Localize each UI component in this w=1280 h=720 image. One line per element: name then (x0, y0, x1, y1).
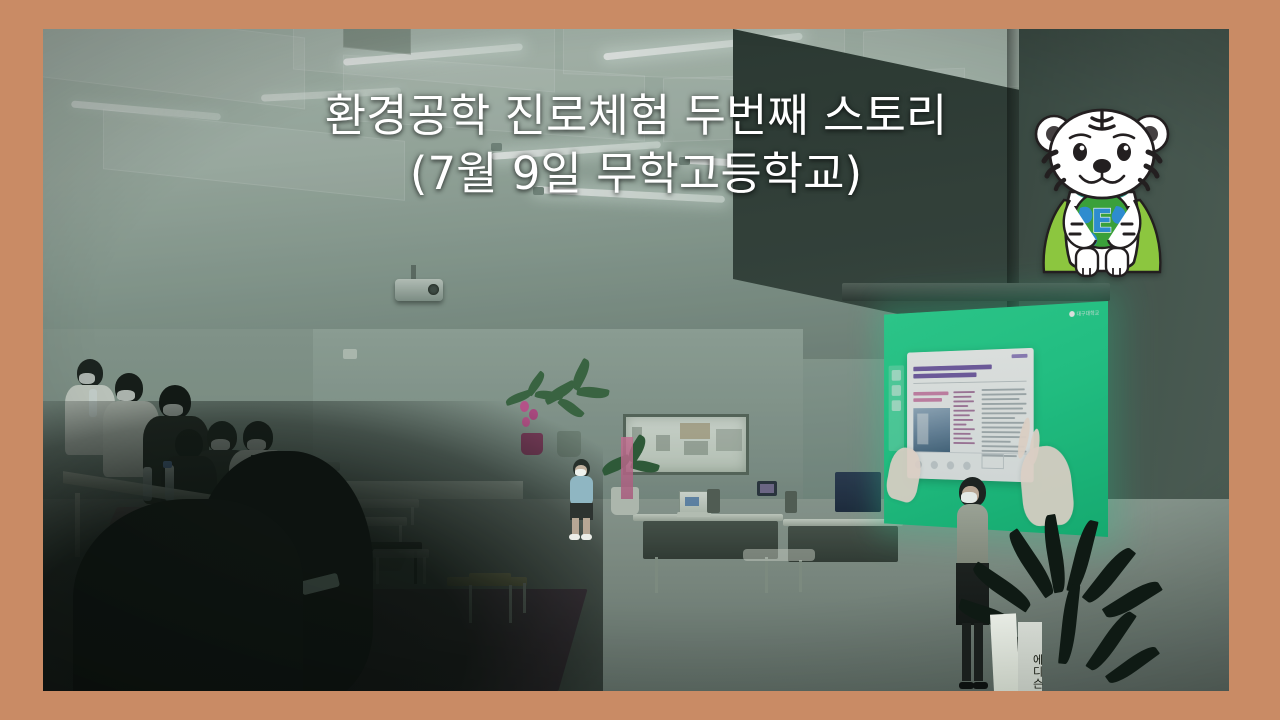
shoe (959, 682, 974, 689)
speaker (707, 489, 720, 513)
doc-brand-mark (1012, 354, 1028, 358)
face-mask (575, 469, 586, 476)
slide-document (907, 348, 1034, 483)
shoe (581, 534, 592, 540)
sidebar-chip (892, 385, 901, 396)
leg (962, 623, 971, 681)
white-tiger-mascot: E (1012, 96, 1192, 286)
shoe (569, 534, 580, 540)
ribbon-banner (621, 437, 633, 499)
cable-bundle (743, 549, 815, 561)
foreground-student (73, 499, 303, 691)
desk-leg (765, 557, 768, 593)
slide-sidebar (889, 365, 904, 451)
torso (957, 504, 988, 566)
wall-socket (343, 349, 357, 359)
doc-photo (913, 408, 950, 452)
doc-subheadline (913, 372, 976, 378)
title-line-1: 환경공학 진로체험 두번째 스토리 (325, 89, 948, 142)
leg (974, 623, 983, 681)
gift-card (990, 613, 1020, 691)
sidebar-chip (892, 370, 901, 381)
sidebar-chip (892, 400, 901, 411)
foreground-plant: 에디슨 (998, 514, 1148, 691)
torso (570, 476, 593, 506)
university-logo: 대구대학교 (1069, 309, 1099, 318)
globe-letter: E (1091, 202, 1113, 240)
congratulation-sign: 에디슨 (1018, 622, 1042, 691)
desk-leg (655, 557, 658, 593)
shoe (973, 682, 988, 689)
doc-accent-line (913, 391, 948, 395)
laptop-base (677, 512, 712, 517)
seated-person (565, 459, 597, 535)
desk-leg (799, 560, 802, 592)
doc-divider (913, 381, 1026, 384)
doc-accent-line (913, 398, 942, 402)
speaker (785, 491, 797, 513)
doc-text-column (953, 391, 975, 447)
doc-headline (913, 364, 991, 371)
ceiling-projector (395, 279, 443, 301)
monitor-screen (760, 484, 774, 493)
slide-frame: 대구대학교 (0, 0, 1280, 720)
doc-footer (913, 451, 1026, 475)
face-mask (961, 492, 977, 503)
